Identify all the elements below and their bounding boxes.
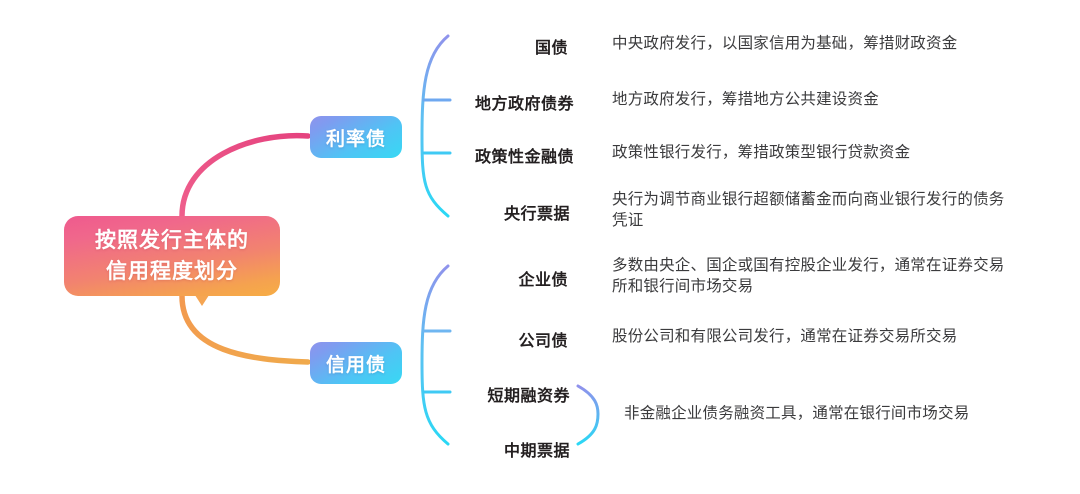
brace-rate (422, 36, 448, 216)
leaf-label-guozhai[interactable]: 国债 (368, 34, 568, 58)
mindmap-canvas: 按照发行主体的 信用程度划分 利率债 信用债 国债 中央政府发行，以国家信用为基… (0, 0, 1080, 494)
leaf-label-zhongqi[interactable]: 中期票据 (368, 437, 570, 461)
leaf-desc-difang: 地方政府发行，筹措地方公共建设资金 (612, 89, 879, 110)
brace-group-short-medium (578, 386, 598, 444)
branch-node-credit-label: 信用债 (326, 350, 386, 377)
leaf-desc-qiyezhai: 多数由央企、国企或国有控股企业发行，通常在证券交易所和银行间市场交易 (612, 255, 1012, 297)
root-node-label-line1: 按照发行主体的 (95, 225, 249, 256)
leaf-desc-yanghang: 央行为调节商业银行超额储蓄金而向商业银行发行的债务凭证 (612, 189, 1012, 231)
root-node[interactable]: 按照发行主体的 信用程度划分 (64, 216, 280, 296)
leaf-label-qiyezhai[interactable]: 企业债 (368, 266, 568, 290)
leaf-desc-zhengcexing: 政策性银行发行，筹措政策型银行贷款资金 (612, 142, 910, 163)
brace-credit (422, 266, 448, 444)
connector-root-to-rate (182, 136, 308, 216)
leaf-label-difang[interactable]: 地方政府债券 (368, 90, 574, 114)
root-node-label-line2: 信用程度划分 (106, 256, 238, 287)
branch-node-rate[interactable]: 利率债 (310, 116, 402, 158)
leaf-desc-grouped-short-medium: 非金融企业债务融资工具，通常在银行间市场交易 (624, 403, 969, 424)
branch-node-rate-label: 利率债 (326, 124, 386, 151)
leaf-desc-guozhai: 中央政府发行，以国家信用为基础，筹措财政资金 (612, 33, 957, 54)
leaf-desc-gongsizhai: 股份公司和有限公司发行，通常在证券交易所交易 (612, 326, 957, 347)
leaf-label-yanghang[interactable]: 央行票据 (368, 200, 570, 224)
leaf-label-duanqi[interactable]: 短期融资券 (368, 382, 570, 406)
branch-node-credit[interactable]: 信用债 (310, 342, 402, 384)
